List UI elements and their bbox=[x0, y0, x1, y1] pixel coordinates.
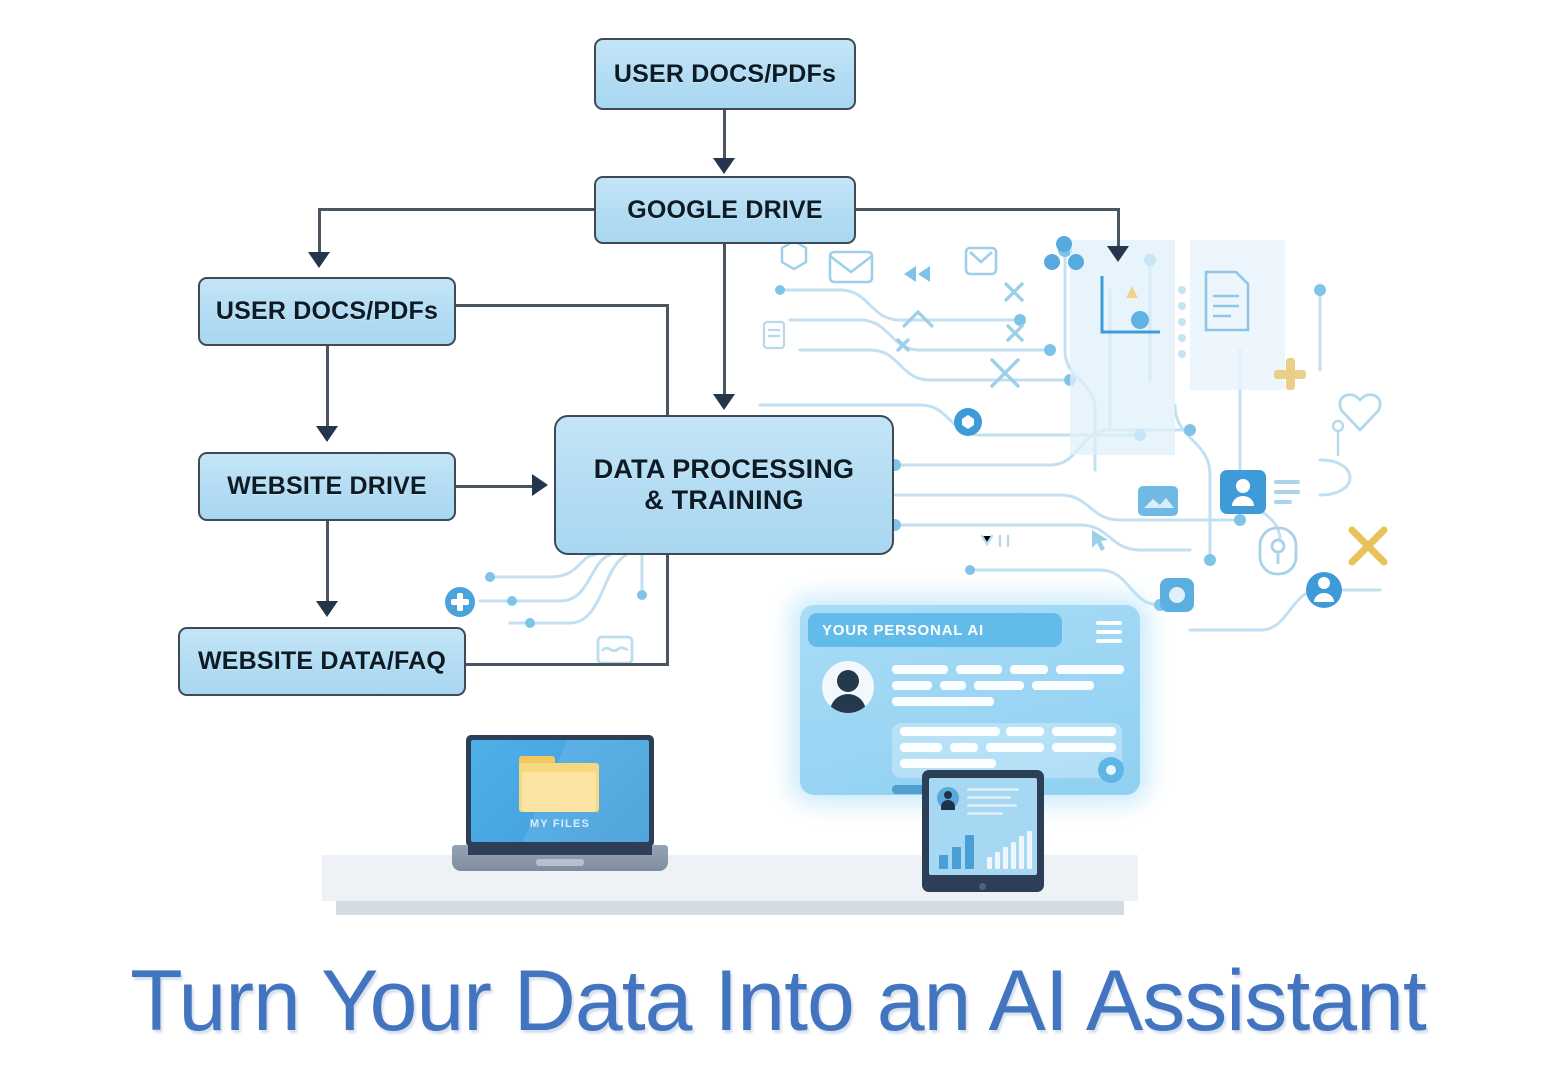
user-avatar-icon bbox=[822, 661, 874, 713]
page-title: Turn Your Data Into an AI Assistant bbox=[0, 952, 1556, 1051]
text-line bbox=[1052, 727, 1116, 736]
arrowhead-gdrive bbox=[713, 158, 735, 174]
text-line bbox=[967, 788, 1019, 791]
diagram-canvas: USER DOCS/PDFs GOOGLE DRIVE USER DOCS/PD… bbox=[0, 0, 1556, 1078]
connector-userdocs-bus-h bbox=[456, 304, 669, 307]
laptop-screen-label: MY FILES bbox=[471, 818, 649, 830]
laptop-trackpad bbox=[536, 859, 584, 866]
personal-ai-chat-card[interactable]: YOUR PERSONAL AI bbox=[800, 605, 1140, 795]
text-line bbox=[986, 743, 1044, 752]
node-label: USER DOCS/PDFs bbox=[216, 297, 438, 326]
circuit-decoration-lower bbox=[430, 555, 690, 675]
text-line bbox=[956, 665, 1002, 674]
node-label: WEBSITE DRIVE bbox=[227, 472, 427, 501]
text-line bbox=[892, 697, 994, 706]
arrowhead-gdrive-right bbox=[1107, 246, 1129, 262]
text-line bbox=[1052, 743, 1116, 752]
tablet-screen bbox=[929, 778, 1037, 875]
arrowhead-userdocs-left bbox=[308, 252, 330, 268]
connector-gdrive-to-dpt bbox=[723, 242, 726, 398]
connector-websitedrive-to-dpt bbox=[456, 485, 534, 488]
text-line bbox=[950, 743, 978, 752]
connector-gdrive-right-v bbox=[1117, 208, 1120, 250]
folder-icon bbox=[519, 756, 599, 812]
laptop-device: MY FILES bbox=[452, 735, 668, 895]
text-line bbox=[900, 727, 1000, 736]
connector-gdrive-left-h bbox=[318, 208, 596, 211]
laptop-screen: MY FILES bbox=[466, 735, 654, 847]
user-avatar-icon bbox=[937, 787, 959, 809]
connector-gdrive-right-h bbox=[854, 208, 1120, 211]
text-line bbox=[940, 681, 966, 690]
circle-node-icon[interactable] bbox=[1098, 757, 1124, 783]
node-website-drive[interactable]: WEBSITE DRIVE bbox=[198, 452, 456, 521]
text-line bbox=[967, 812, 1003, 815]
connector-faq-bus-h bbox=[464, 663, 669, 666]
text-line bbox=[967, 804, 1017, 807]
node-label: WEBSITE DATA/FAQ bbox=[198, 647, 446, 676]
arrowhead-website-faq bbox=[316, 601, 338, 617]
node-website-data-faq[interactable]: WEBSITE DATA/FAQ bbox=[178, 627, 466, 696]
node-label-line1: DATA PROCESSING bbox=[594, 454, 855, 485]
tablet-device bbox=[922, 770, 1044, 892]
chat-card-header: YOUR PERSONAL AI bbox=[808, 613, 1062, 647]
node-user-docs-left[interactable]: USER DOCS/PDFs bbox=[198, 277, 456, 346]
connector-userdocs-to-gdrive bbox=[723, 110, 726, 162]
node-label: GOOGLE DRIVE bbox=[627, 196, 822, 225]
node-label: USER DOCS/PDFs bbox=[614, 60, 836, 89]
text-line bbox=[892, 681, 932, 690]
arrowhead-dpt-top bbox=[713, 394, 735, 410]
node-label-line2: & TRAINING bbox=[594, 485, 855, 516]
text-line bbox=[1032, 681, 1094, 690]
text-line bbox=[900, 759, 996, 768]
node-data-processing-training[interactable]: DATA PROCESSING & TRAINING bbox=[554, 415, 894, 555]
chat-card-title: YOUR PERSONAL AI bbox=[822, 622, 984, 639]
hamburger-icon[interactable] bbox=[1096, 621, 1122, 637]
arrowhead-dpt-left bbox=[532, 474, 548, 496]
tablet-home-button[interactable] bbox=[979, 883, 986, 890]
text-line bbox=[1006, 727, 1044, 736]
text-line bbox=[900, 743, 942, 752]
connector-websitedrive-to-faq bbox=[326, 521, 329, 605]
text-line bbox=[892, 665, 948, 674]
text-line bbox=[1056, 665, 1124, 674]
arrowhead-website-drive bbox=[316, 426, 338, 442]
connector-gdrive-left-v bbox=[318, 208, 321, 256]
connector-userdocs-to-websitedrive bbox=[326, 346, 329, 430]
node-user-docs-top[interactable]: USER DOCS/PDFs bbox=[594, 38, 856, 110]
node-google-drive[interactable]: GOOGLE DRIVE bbox=[594, 176, 856, 244]
text-line bbox=[967, 796, 1011, 799]
text-line bbox=[1010, 665, 1048, 674]
text-line bbox=[974, 681, 1024, 690]
